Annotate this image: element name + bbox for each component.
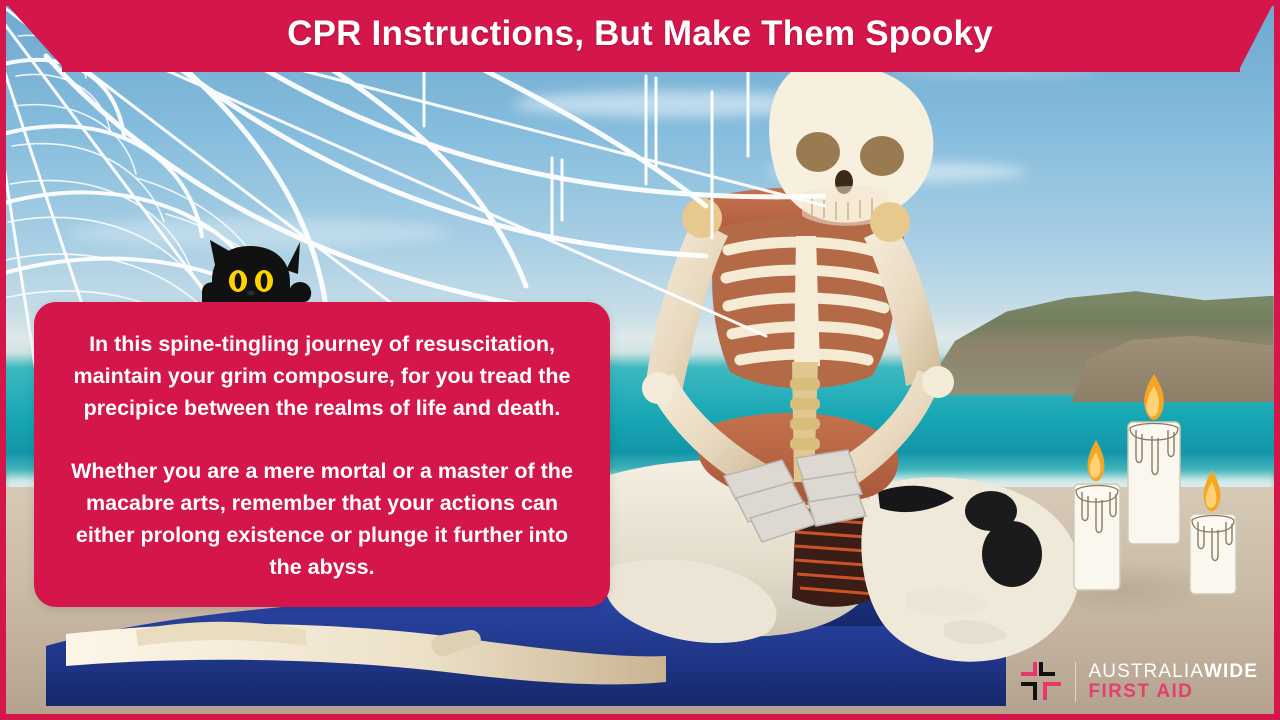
logo-wordmark: AUSTRALIAWIDE FIRST AID bbox=[1088, 662, 1258, 702]
page-title: CPR Instructions, But Make Them Spooky bbox=[0, 0, 1280, 68]
logo-line-2: FIRST AID bbox=[1088, 682, 1258, 702]
tall-candle bbox=[1128, 374, 1180, 544]
halloween-candles bbox=[1066, 366, 1256, 606]
spooky-instructions-card: In this spine-tingling journey of resusc… bbox=[34, 302, 610, 607]
logo-line-1: AUSTRALIAWIDE bbox=[1088, 662, 1258, 682]
cat-pupil-right bbox=[261, 273, 268, 289]
logo-australia-text: AUSTRALIA bbox=[1088, 661, 1204, 682]
logo-divider bbox=[1075, 662, 1076, 702]
cat-nose bbox=[247, 290, 255, 295]
logo-wide-text: WIDE bbox=[1204, 661, 1258, 682]
first-aid-cross-icon bbox=[1019, 660, 1063, 704]
instruction-paragraph-1: In this spine-tingling journey of resusc… bbox=[60, 328, 584, 424]
short-candle bbox=[1190, 470, 1236, 594]
instruction-paragraph-2: Whether you are a mere mortal or a maste… bbox=[60, 455, 584, 583]
poster-canvas: CPR Instructions, But Make Them Spooky I… bbox=[0, 0, 1280, 720]
black-cat-icon bbox=[194, 236, 318, 308]
medium-candle bbox=[1074, 440, 1120, 590]
cat-pupil-left bbox=[235, 273, 242, 289]
australia-wide-first-aid-logo[interactable]: AUSTRALIAWIDE FIRST AID bbox=[1019, 656, 1258, 708]
